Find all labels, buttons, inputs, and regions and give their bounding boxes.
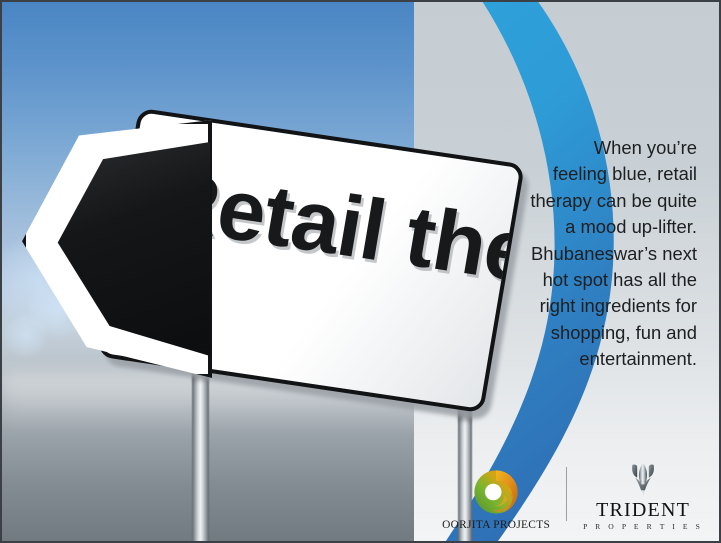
logo-lockup: OORJITA PROJECTS [442,463,703,531]
body-copy-line: a mood up-lifter. [487,214,697,240]
body-copy-line: feeling blue, retail [487,161,697,187]
trident-logo: TRIDENT P R O P E R T I E S [583,463,703,531]
oorjita-logo-text: OORJITA PROJECTS [442,519,550,531]
body-copy-line: right ingredients for [487,293,697,319]
body-copy-line: shopping, fun and [487,320,697,346]
swirl-ring-icon [473,469,519,515]
body-copy-line: entertainment. [487,346,697,372]
body-copy: When you’re feeling blue, retail therapy… [487,135,697,373]
logo-divider [566,467,567,521]
directional-road-sign: Retail therapy [22,98,522,398]
body-copy-line: Bhubaneswar’s next [487,241,697,267]
body-copy-line: hot spot has all the [487,267,697,293]
trident-icon [628,463,658,497]
trident-logo-text: TRIDENT [596,500,690,521]
body-copy-line: therapy can be quite [487,188,697,214]
oorjita-logo: OORJITA PROJECTS [442,469,550,531]
body-copy-line: When you’re [487,135,697,161]
advertisement-canvas: Retail therapy When you’re feeling blue,… [0,0,721,543]
trident-logo-subtitle: P R O P E R T I E S [583,522,703,531]
left-arrow-icon [22,120,212,378]
